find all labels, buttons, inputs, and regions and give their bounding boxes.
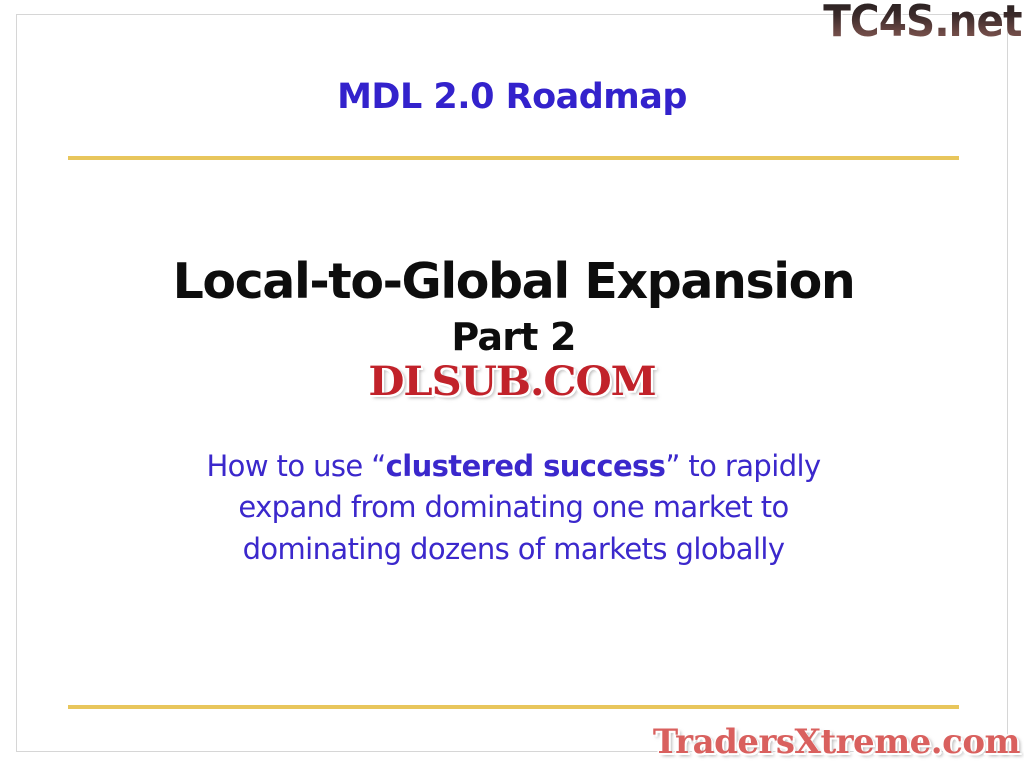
slide-body: Local-to-Global Expansion Part 2 How to … [68,255,959,571]
slide-headline-part: Part 2 [68,316,959,360]
watermark-tradersxtreme: TradersXtreme.com [653,722,1020,762]
divider-bottom [68,705,959,709]
watermark-dlsub: DLSUB.COM [368,358,655,405]
page-title: MDL 2.0 Roadmap [17,77,1007,117]
screenshot-root: MDL 2.0 Roadmap Local-to-Global Expansio… [0,0,1024,768]
watermark-tc4s: TC4S.net [824,0,1022,47]
slide-description: How to use “clustered success” to rapidl… [164,446,864,571]
description-emphasis: clustered success [386,449,666,483]
divider-top [68,156,959,160]
slide-headline: Local-to-Global Expansion [68,255,959,310]
description-prefix: How to use “ [206,449,385,483]
